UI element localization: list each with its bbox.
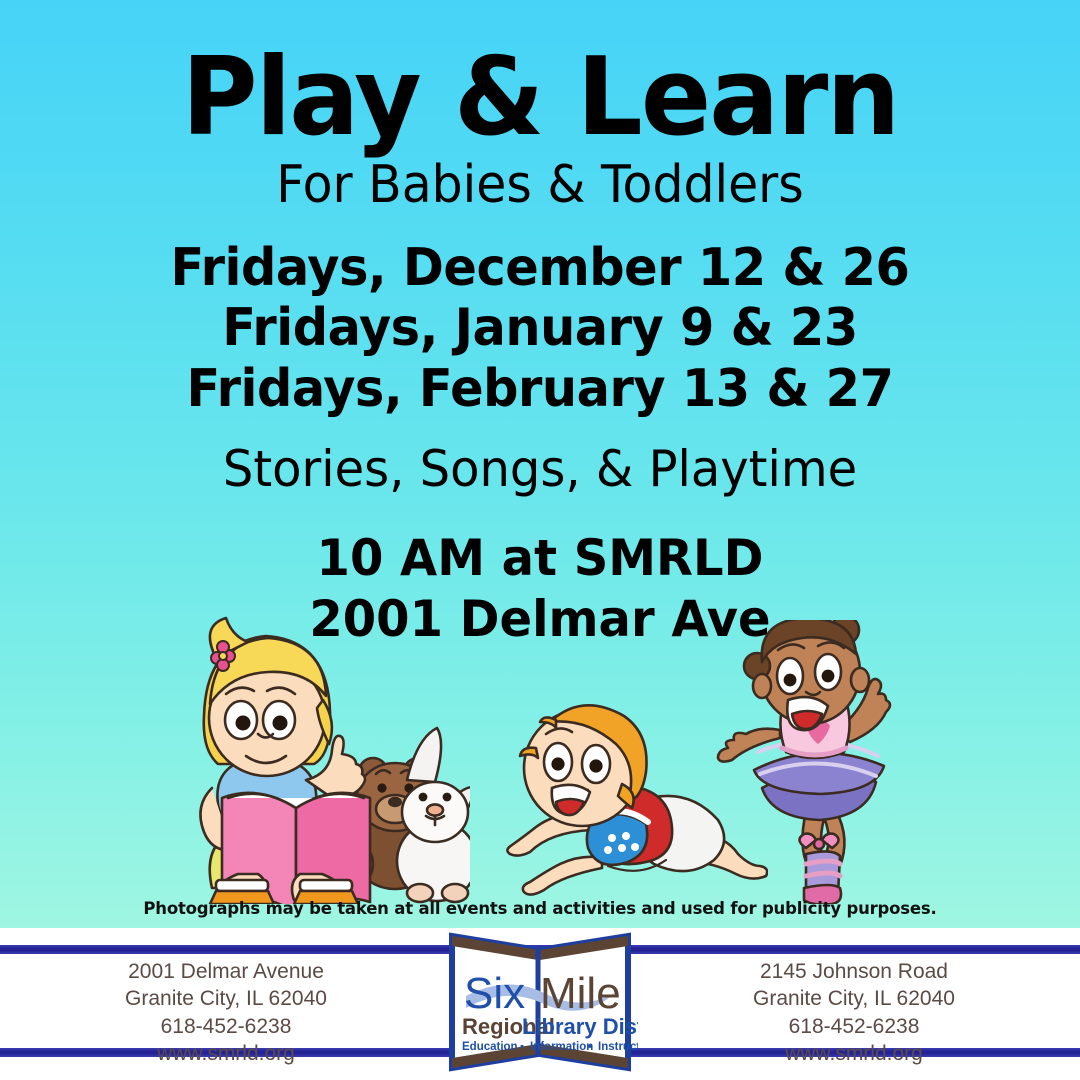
address-city-state-zip: Granite City, IL 62040 bbox=[664, 985, 1044, 1012]
logo-tagline-instruction: Instruction bbox=[598, 1041, 638, 1053]
event-activities: Stories, Songs, & Playtime bbox=[22, 440, 1059, 498]
address-city-state-zip: Granite City, IL 62040 bbox=[36, 985, 416, 1012]
poster-footer: 2001 Delmar Avenue Granite City, IL 6204… bbox=[0, 928, 1080, 1080]
dancing-toddler-illustration bbox=[714, 620, 914, 904]
page-subtitle: For Babies & Toddlers bbox=[32, 152, 1047, 213]
logo-tagline-education: Education bbox=[462, 1041, 518, 1053]
event-date-line: Fridays, February 13 & 27 bbox=[27, 359, 1053, 419]
logo-tagline-information: Information bbox=[530, 1041, 593, 1053]
logo-word-six: Six bbox=[464, 969, 525, 1018]
logo-word-library-district: Library District bbox=[522, 1014, 638, 1039]
address-street: 2001 Delmar Avenue bbox=[36, 958, 416, 985]
address-website[interactable]: www.smrld.org bbox=[36, 1040, 416, 1067]
page-title: Play & Learn bbox=[22, 0, 1059, 152]
address-street: 2145 Johnson Road bbox=[664, 958, 1044, 985]
branch-address-delmar: 2001 Delmar Avenue Granite City, IL 6204… bbox=[36, 958, 416, 1067]
girl-reading-book-illustration bbox=[160, 612, 470, 904]
logo-word-mile: Mile bbox=[540, 969, 621, 1018]
illustration-row bbox=[0, 612, 1080, 912]
logo-tagline-separator-2: ▪ bbox=[588, 1041, 592, 1053]
event-time: 10 AM at SMRLD bbox=[22, 528, 1059, 589]
address-phone: 618-452-6238 bbox=[664, 1013, 1044, 1040]
poster-hero-background: Play & Learn For Babies & Toddlers Frida… bbox=[0, 0, 1080, 928]
branch-address-johnson: 2145 Johnson Road Granite City, IL 62040… bbox=[664, 958, 1044, 1067]
photography-disclaimer: Photographs may be taken at all events a… bbox=[16, 899, 1064, 919]
logo-tagline-separator-1: ▪ bbox=[520, 1041, 524, 1053]
address-phone: 618-452-6238 bbox=[36, 1013, 416, 1040]
six-mile-regional-library-district-logo: Six Mile Regional Library District Educa… bbox=[442, 926, 638, 1078]
event-date-line: Fridays, January 9 & 23 bbox=[27, 298, 1053, 358]
poster: Play & Learn For Babies & Toddlers Frida… bbox=[0, 0, 1080, 1080]
headline-block: Play & Learn For Babies & Toddlers bbox=[0, 0, 1080, 213]
event-dates-list: Fridays, December 12 & 26 Fridays, Janua… bbox=[0, 238, 1080, 419]
event-date-line: Fridays, December 12 & 26 bbox=[27, 238, 1053, 298]
address-website[interactable]: www.smrld.org bbox=[664, 1040, 1044, 1067]
